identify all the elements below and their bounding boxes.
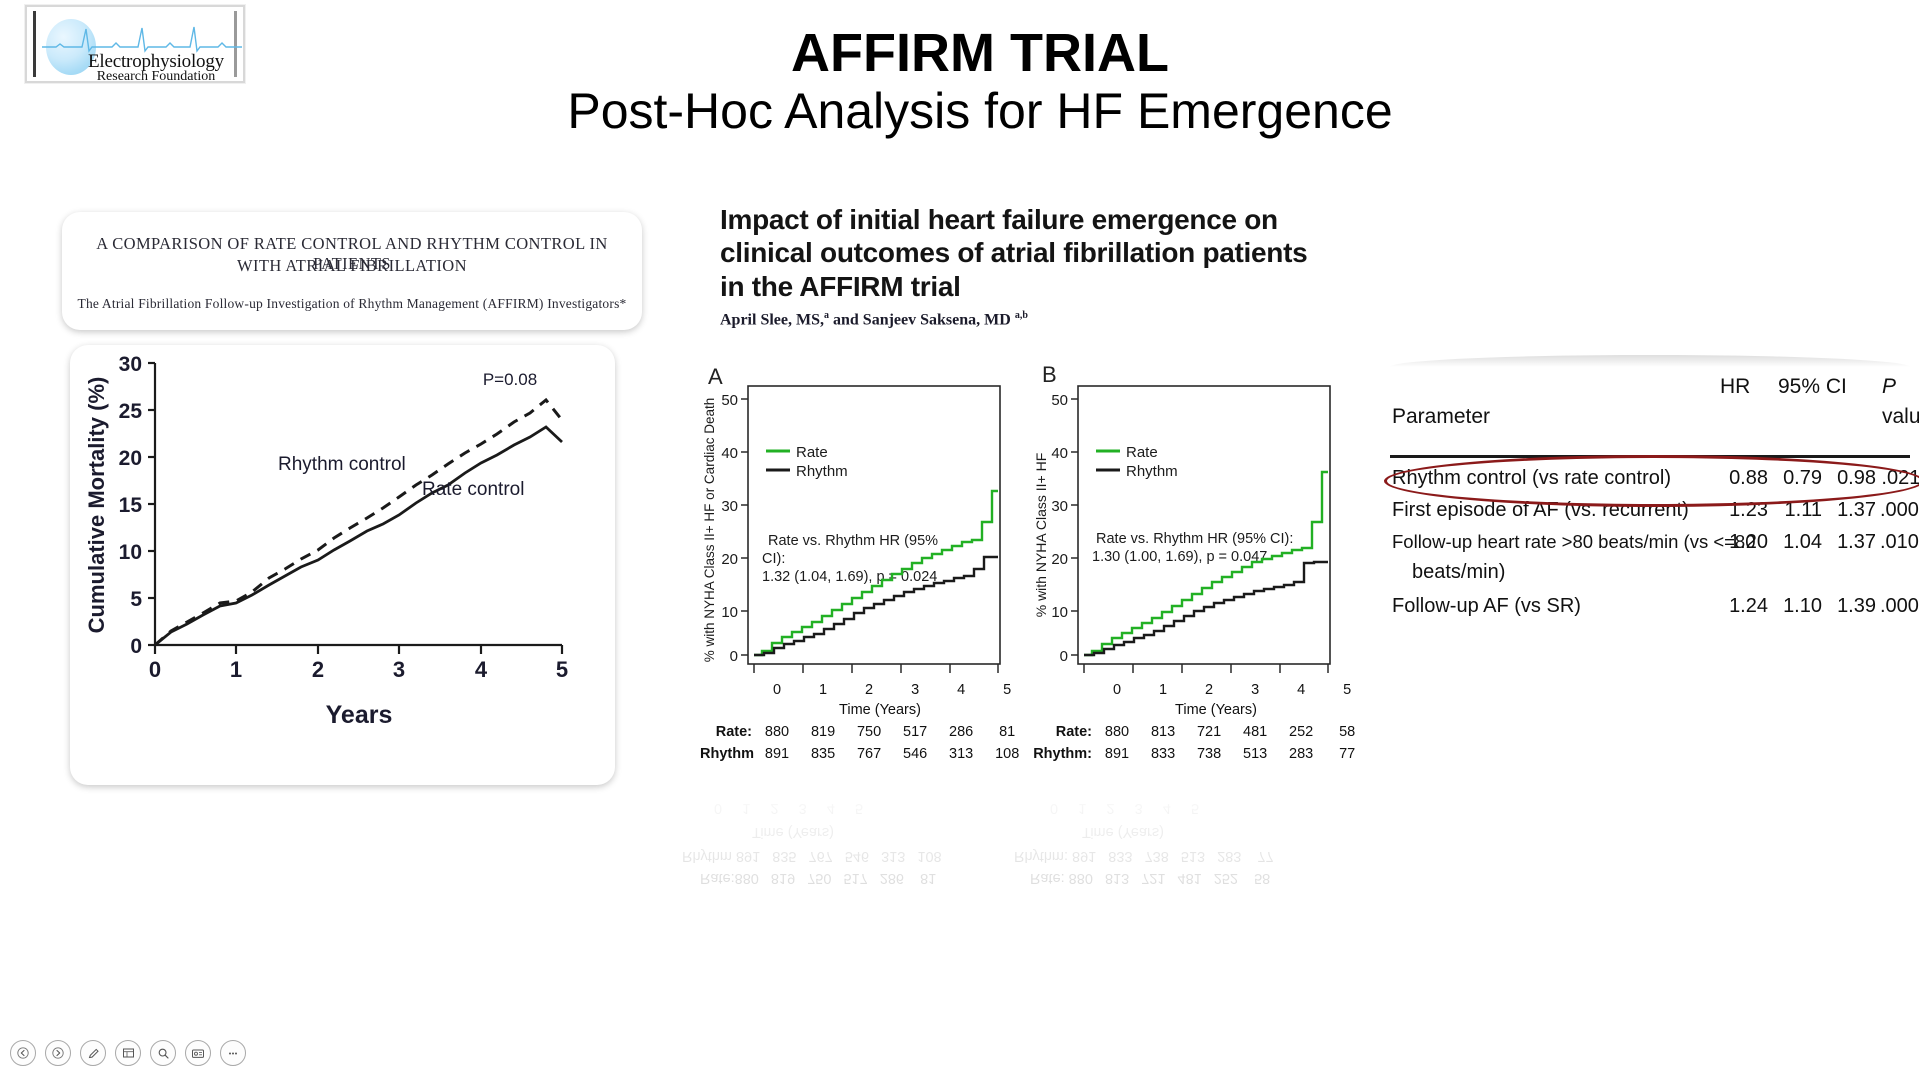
svg-text:5: 5: [556, 657, 568, 682]
svg-text:0: 0: [130, 635, 142, 658]
panel-b-rhythm-5: 77: [1326, 746, 1368, 762]
row-1-ci-low: 1.11: [1774, 499, 1822, 522]
left-paper-authors: The Atrial Fibrillation Follow-up Invest…: [76, 296, 628, 312]
panel-b-annotation-1: Rate vs. Rhythm HR (95% CI):: [1096, 531, 1293, 547]
chevron-left-icon: [17, 1047, 29, 1059]
panel-a-risk-row-rate: Rate: 880 819 750 517 286 81: [700, 724, 1028, 740]
pen-icon: [87, 1047, 100, 1060]
row-4-p: .0004: [1878, 595, 1919, 618]
panel-a-rhythm-1: 835: [802, 746, 844, 762]
svg-text:1: 1: [230, 657, 242, 682]
next-slide-button[interactable]: [45, 1040, 71, 1066]
panel-b-rate-4: 252: [1280, 724, 1322, 740]
panel-a-risk-label-rhythm: Rhythm: [700, 746, 752, 762]
panel-b-legend-rate: Rate: [1126, 444, 1158, 461]
label-rhythm-control: Rhythm control: [278, 454, 406, 475]
panel-a-risk-row-rhythm: Rhythm 891 835 767 546 313 108: [700, 746, 1028, 762]
panel-b-rhythm-4: 283: [1280, 746, 1322, 762]
panel-b-xlabel: Time (Years): [1088, 702, 1344, 718]
panel-a-annotation-2: CI):: [762, 551, 785, 567]
screen-icon: [191, 1047, 205, 1060]
svg-text:2: 2: [312, 657, 324, 682]
row-4-ci-low: 1.10: [1774, 595, 1822, 618]
presentation-toolbar[interactable]: [10, 1035, 246, 1071]
panel-a-risk-label-rate: Rate:: [700, 724, 752, 740]
row-0-ci-low: 0.79: [1774, 467, 1822, 490]
logo-line2: Research Foundation: [76, 69, 236, 85]
svg-text:25: 25: [119, 400, 143, 423]
panel-b-tick-3: 3: [1234, 682, 1276, 698]
middle-title-line3: in the AFFIRM trial: [720, 270, 1340, 303]
magnifier-icon: [157, 1047, 170, 1060]
table-header-p-value: value: [1882, 405, 1919, 429]
svg-text:30: 30: [1051, 498, 1068, 515]
table-header-p: P: [1882, 375, 1896, 399]
panel-b-rhythm-0: 891: [1096, 746, 1138, 762]
panel-a-rate-4: 286: [940, 724, 982, 740]
panel-a-rate-2: 750: [848, 724, 890, 740]
svg-text:40: 40: [1051, 445, 1068, 462]
panel-b-tick-5: 5: [1326, 682, 1368, 698]
table-header-parameter: Parameter: [1392, 405, 1490, 429]
table-row[interactable]: First episode of AF (vs. recurrent) 1.23…: [1390, 499, 1910, 527]
panel-b-rate-2: 721: [1188, 724, 1230, 740]
svg-text:15: 15: [119, 494, 143, 517]
presenter-view-button[interactable]: [185, 1040, 211, 1066]
svg-text:5: 5: [130, 588, 142, 611]
logo-frame: Electrophysiology Research Foundation: [33, 11, 237, 77]
panel-b-rate-0: 880: [1096, 724, 1138, 740]
panel-b-rate-3: 481: [1234, 724, 1276, 740]
panel-a-annotation-3: 1.32 (1.04, 1.69), p = 0.024: [762, 569, 937, 585]
svg-text:30: 30: [119, 353, 142, 376]
all-slides-button[interactable]: [115, 1040, 141, 1066]
panel-a: A 50 40 30 20 10 0 % with NYHA Class II+…: [700, 360, 1030, 690]
previous-slide-button[interactable]: [10, 1040, 36, 1066]
middle-title-line2: clinical outcomes of atrial fibrillation…: [720, 236, 1340, 269]
panel-a-rhythm-4: 313: [940, 746, 982, 762]
row-1-hr: 1.23: [1720, 499, 1768, 522]
svg-text:0: 0: [149, 657, 161, 682]
row-2-hr: 1.20: [1720, 531, 1768, 554]
row-2-p: .0106: [1878, 531, 1919, 554]
panel-a-tick-0: 0: [756, 682, 798, 698]
left-chart-pvalue: P=0.08: [483, 370, 537, 389]
table-row[interactable]: Follow-up heart rate >80 beats/min (vs <…: [1390, 531, 1910, 559]
row-4-parameter: Follow-up AF (vs SR): [1392, 595, 1581, 618]
panel-a-legend-rate: Rate: [796, 444, 828, 461]
panel-a-rate-0: 880: [756, 724, 798, 740]
middle-paper-authors: April Slee, MS,a and Sanjeev Saksena, MD…: [720, 310, 1340, 329]
pen-tool-button[interactable]: [80, 1040, 106, 1066]
panel-a-rhythm-2: 767: [848, 746, 890, 762]
authors-pre: April Slee, MS,: [720, 311, 824, 328]
row-2-ci-low: 1.04: [1774, 531, 1822, 554]
organization-logo: Electrophysiology Research Foundation: [25, 5, 245, 83]
row-2-ci-high: 1.37: [1828, 531, 1876, 554]
label-rate-control: Rate control: [422, 479, 524, 500]
slide-title: AFFIRM TRIAL: [430, 22, 1530, 84]
svg-text:0: 0: [730, 648, 738, 665]
panel-a-rate-3: 517: [894, 724, 936, 740]
panel-a-rate-1: 819: [802, 724, 844, 740]
row-4-hr: 1.24: [1720, 595, 1768, 618]
svg-text:20: 20: [1051, 551, 1068, 568]
middle-paper-title: Impact of initial heart failure emergenc…: [720, 203, 1340, 303]
multivariate-results-table: Parameter HR 95% CI P value Rhythm contr…: [1390, 355, 1919, 675]
panel-a-rhythm-5: 108: [986, 746, 1028, 762]
row-2-parameter: Follow-up heart rate >80 beats/min (vs <…: [1392, 531, 1756, 553]
cumulative-mortality-chart: 30 25 20 15 10 5 0 0 1 2 3 4 5 Cumulativ…: [70, 345, 615, 785]
row-0-p: .0211: [1878, 467, 1919, 490]
panel-a-rate-5: 81: [986, 724, 1028, 740]
left-paper-title-line2: WITH ATRIAL FIBRILLATION: [76, 256, 628, 276]
panel-b-tick-1: 1: [1142, 682, 1184, 698]
panel-a-tick-2: 2: [848, 682, 890, 698]
more-options-button[interactable]: [220, 1040, 246, 1066]
row-4-ci-high: 1.39: [1828, 595, 1876, 618]
table-header-ci: 95% CI: [1778, 375, 1847, 399]
panel-a-annotation-1: Rate vs. Rhythm HR (95%: [768, 533, 938, 549]
table-header-rule: [1390, 455, 1910, 458]
svg-text:20: 20: [721, 551, 738, 568]
panel-b-rate-1: 813: [1142, 724, 1184, 740]
svg-text:30: 30: [721, 498, 738, 515]
table-header-hr: HR: [1720, 375, 1750, 399]
panel-b-ylabel: % with NYHA Class II+ HF: [1033, 453, 1049, 618]
panel-b-tick-0: 0: [1096, 682, 1138, 698]
svg-text:10: 10: [721, 604, 738, 621]
ellipsis-icon: [226, 1047, 240, 1060]
panel-b-annotation-2: 1.30 (1.00, 1.69), p = 0.047: [1092, 549, 1267, 565]
panel-b-tick-2: 2: [1188, 682, 1230, 698]
svg-text:50: 50: [1051, 392, 1068, 409]
row-1-p: .0001: [1878, 499, 1919, 522]
row-1-ci-high: 1.37: [1828, 499, 1876, 522]
middle-title-line1: Impact of initial heart failure emergenc…: [720, 203, 1340, 236]
panel-a-chart: A 50 40 30 20 10 0 % with NYHA Class II+…: [700, 360, 1030, 690]
grid-icon: [122, 1047, 135, 1060]
svg-text:3: 3: [393, 657, 405, 682]
left-chart-xlabel: Years: [326, 701, 393, 729]
table-top-shadow: [1390, 355, 1910, 367]
panel-b-rhythm-3: 513: [1234, 746, 1276, 762]
panel-b-series-rhythm: [1084, 562, 1328, 655]
panel-b-risk-label-rate: Rate:: [1030, 724, 1092, 740]
panel-a-letter: A: [708, 364, 723, 389]
panel-b-time-ticks: 0 1 2 3 4 5: [1030, 682, 1368, 698]
panel-b-letter: B: [1042, 362, 1057, 387]
left-paper-header-card: A COMPARISON OF RATE CONTROL AND RHYTHM …: [62, 212, 642, 330]
panel-a-tick-1: 1: [802, 682, 844, 698]
panel-b-risk-row-rhythm: Rhythm: 891 833 738 513 283 77: [1030, 746, 1368, 762]
row-0-parameter: Rhythm control (vs rate control): [1392, 467, 1671, 490]
panel-b: B 50 40 30 20 10 0 % with NYHA Class II+…: [1030, 360, 1360, 690]
svg-text:40: 40: [721, 445, 738, 462]
row-1-parameter: First episode of AF (vs. recurrent): [1392, 499, 1689, 522]
left-chart-ylabel: Cumulative Mortality (%): [84, 377, 109, 634]
panel-a-xlabel: Time (Years): [752, 702, 1008, 718]
panel-b-chart: B 50 40 30 20 10 0 % with NYHA Class II+…: [1030, 360, 1360, 690]
panel-b-rate-5: 58: [1326, 724, 1368, 740]
panel-b-legend-rhythm: Rhythm: [1126, 463, 1178, 480]
panel-b-rhythm-1: 833: [1142, 746, 1184, 762]
panel-a-tick-5: 5: [986, 682, 1028, 698]
row-3-parameter: beats/min): [1412, 561, 1505, 584]
panel-a-legend-rhythm: Rhythm: [796, 463, 848, 480]
zoom-button[interactable]: [150, 1040, 176, 1066]
panel-b-rhythm-2: 738: [1188, 746, 1230, 762]
svg-text:50: 50: [721, 392, 738, 409]
panel-b-risk-label-rhythm: Rhythm:: [1030, 746, 1092, 762]
cumulative-mortality-chart-card: 30 25 20 15 10 5 0 0 1 2 3 4 5 Cumulativ…: [70, 345, 615, 785]
authors-sup2: a,b: [1015, 310, 1028, 321]
figure-reflection: Rate:880 819 750 517 286 81 Rhythm 891 8…: [662, 780, 1377, 900]
slide-subtitle: Post-Hoc Analysis for HF Emergence: [300, 82, 1660, 140]
svg-text:0: 0: [1060, 648, 1068, 665]
panel-a-tick-3: 3: [894, 682, 936, 698]
chevron-right-icon: [52, 1047, 64, 1059]
panel-a-ylabel: % with NYHA Class II+ HF or Cardiac Deat…: [702, 398, 717, 662]
row-0-hr: 0.88: [1720, 467, 1768, 490]
svg-text:20: 20: [119, 447, 142, 470]
panel-a-rhythm-0: 891: [756, 746, 798, 762]
panel-b-tick-4: 4: [1280, 682, 1322, 698]
panel-a-time-ticks: 0 1 2 3 4 5: [700, 682, 1028, 698]
panel-a-tick-4: 4: [940, 682, 982, 698]
table-row[interactable]: Rhythm control (vs rate control) 0.88 0.…: [1390, 467, 1910, 495]
svg-text:10: 10: [119, 541, 142, 564]
table-row-continuation: beats/min): [1390, 561, 1910, 589]
authors-mid: and Sanjeev Saksena, MD: [829, 311, 1015, 328]
svg-text:10: 10: [1051, 604, 1068, 621]
panel-a-rhythm-3: 546: [894, 746, 936, 762]
table-row[interactable]: Follow-up AF (vs SR) 1.24 1.10 1.39 .000…: [1390, 595, 1910, 623]
svg-text:4: 4: [475, 657, 488, 682]
panel-b-risk-row-rate: Rate: 880 813 721 481 252 58: [1030, 724, 1368, 740]
row-0-ci-high: 0.98: [1828, 467, 1876, 490]
